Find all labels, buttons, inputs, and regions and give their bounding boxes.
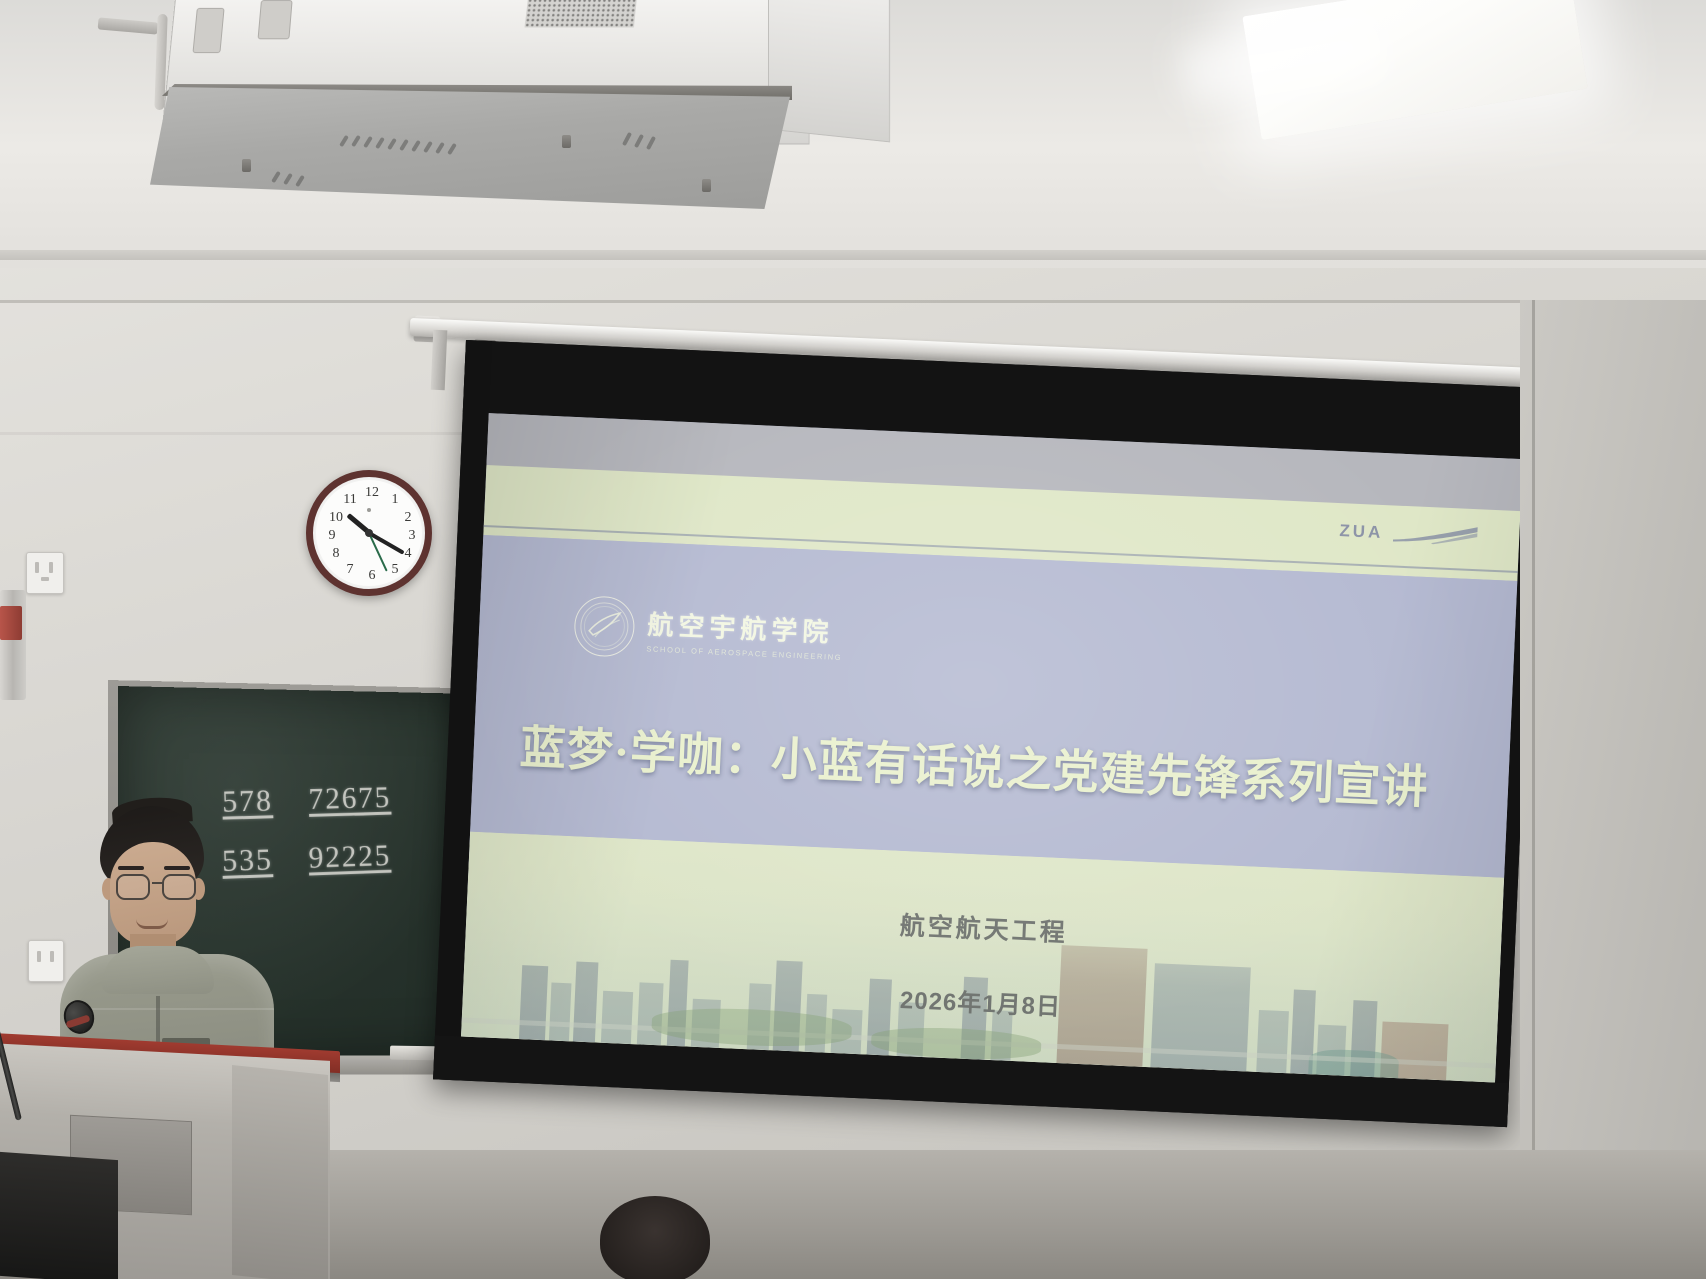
projector-screw — [702, 179, 711, 192]
audience-head — [600, 1196, 710, 1279]
power-socket[interactable] — [26, 552, 64, 594]
eyebrow — [164, 866, 190, 870]
glasses-icon — [116, 874, 150, 900]
clock-numeral: 8 — [328, 546, 344, 562]
projector-grill — [525, 0, 638, 27]
eyebrow — [118, 866, 144, 870]
clock-numeral: 10 — [328, 510, 344, 526]
chalk-number: 72675 — [308, 780, 392, 817]
wall-corner-line — [1532, 300, 1535, 1180]
clock-brand-dot — [367, 508, 371, 512]
mouth — [136, 919, 168, 929]
ceiling-edge — [0, 250, 1706, 260]
projector-side-panel — [768, 0, 890, 142]
wall-seam — [0, 300, 1706, 303]
clock-numeral: 1 — [387, 492, 403, 508]
screen-roller-bracket — [431, 330, 448, 391]
vent-slot — [399, 139, 409, 151]
clock-numeral: 3 — [404, 528, 420, 544]
clock-numeral: 9 — [324, 528, 340, 544]
school-logo: 航空宇航学院 SCHOOL OF AEROSPACE ENGINEERING — [573, 595, 844, 667]
clock-numeral: 2 — [400, 510, 416, 526]
school-name-cn: 航空宇航学院 — [647, 604, 844, 650]
vent-slot — [646, 136, 656, 150]
vent-slot — [622, 132, 632, 146]
wall-marking — [62, 540, 65, 550]
jacket-seam — [76, 1008, 274, 1010]
chalk-number: 92225 — [308, 838, 392, 876]
school-seal-icon — [573, 595, 636, 658]
vent-slot — [339, 135, 349, 147]
jacket-collar — [102, 946, 214, 994]
vent-slot — [351, 135, 361, 147]
clock-numeral: 11 — [342, 492, 358, 508]
right-wall — [1520, 300, 1706, 1180]
ceiling-projector — [168, 0, 828, 207]
projection-screen: ZUA 航空宇航学院 SCHOOL OF AEROSPACE — [433, 340, 1540, 1127]
vent-slot — [435, 142, 445, 154]
vent-slot — [387, 138, 397, 150]
projector-underside — [150, 87, 790, 209]
clock-numeral: 5 — [387, 562, 403, 578]
vent-slot — [411, 140, 421, 152]
vent-slot — [375, 137, 385, 149]
clock-center-pin — [365, 529, 373, 537]
clock-numeral: 12 — [364, 485, 380, 501]
podium-side — [232, 1065, 328, 1279]
vent-slot — [271, 171, 281, 183]
zua-swoosh-icon — [1391, 521, 1480, 549]
projector-screw — [242, 159, 251, 172]
vent-slot — [363, 136, 373, 148]
wall-clock: 12 1 2 3 4 5 6 7 8 9 10 11 — [306, 470, 432, 596]
projector-slot — [192, 8, 224, 53]
vent-slot — [283, 173, 293, 185]
classroom-scene: 12 1 2 3 4 5 6 7 8 9 10 11 — [0, 0, 1706, 1279]
clock-numeral: 7 — [342, 562, 358, 578]
glasses-icon — [162, 874, 196, 900]
projector-screw — [562, 135, 571, 148]
glasses-bridge — [152, 882, 164, 884]
wall-pipe-valve — [0, 606, 22, 640]
vent-slot — [295, 175, 305, 187]
vent-slot — [447, 143, 457, 155]
clock-numeral: 6 — [364, 568, 380, 584]
presentation-slide: ZUA 航空宇航学院 SCHOOL OF AEROSPACE — [461, 413, 1523, 1082]
podium-equipment-bay — [0, 1152, 118, 1279]
clock-face: 12 1 2 3 4 5 6 7 8 9 10 11 — [316, 480, 422, 586]
projector-slot — [258, 0, 293, 39]
vent-slot — [423, 141, 433, 153]
zua-wordmark: ZUA — [1339, 521, 1384, 543]
vent-slot — [634, 134, 644, 148]
